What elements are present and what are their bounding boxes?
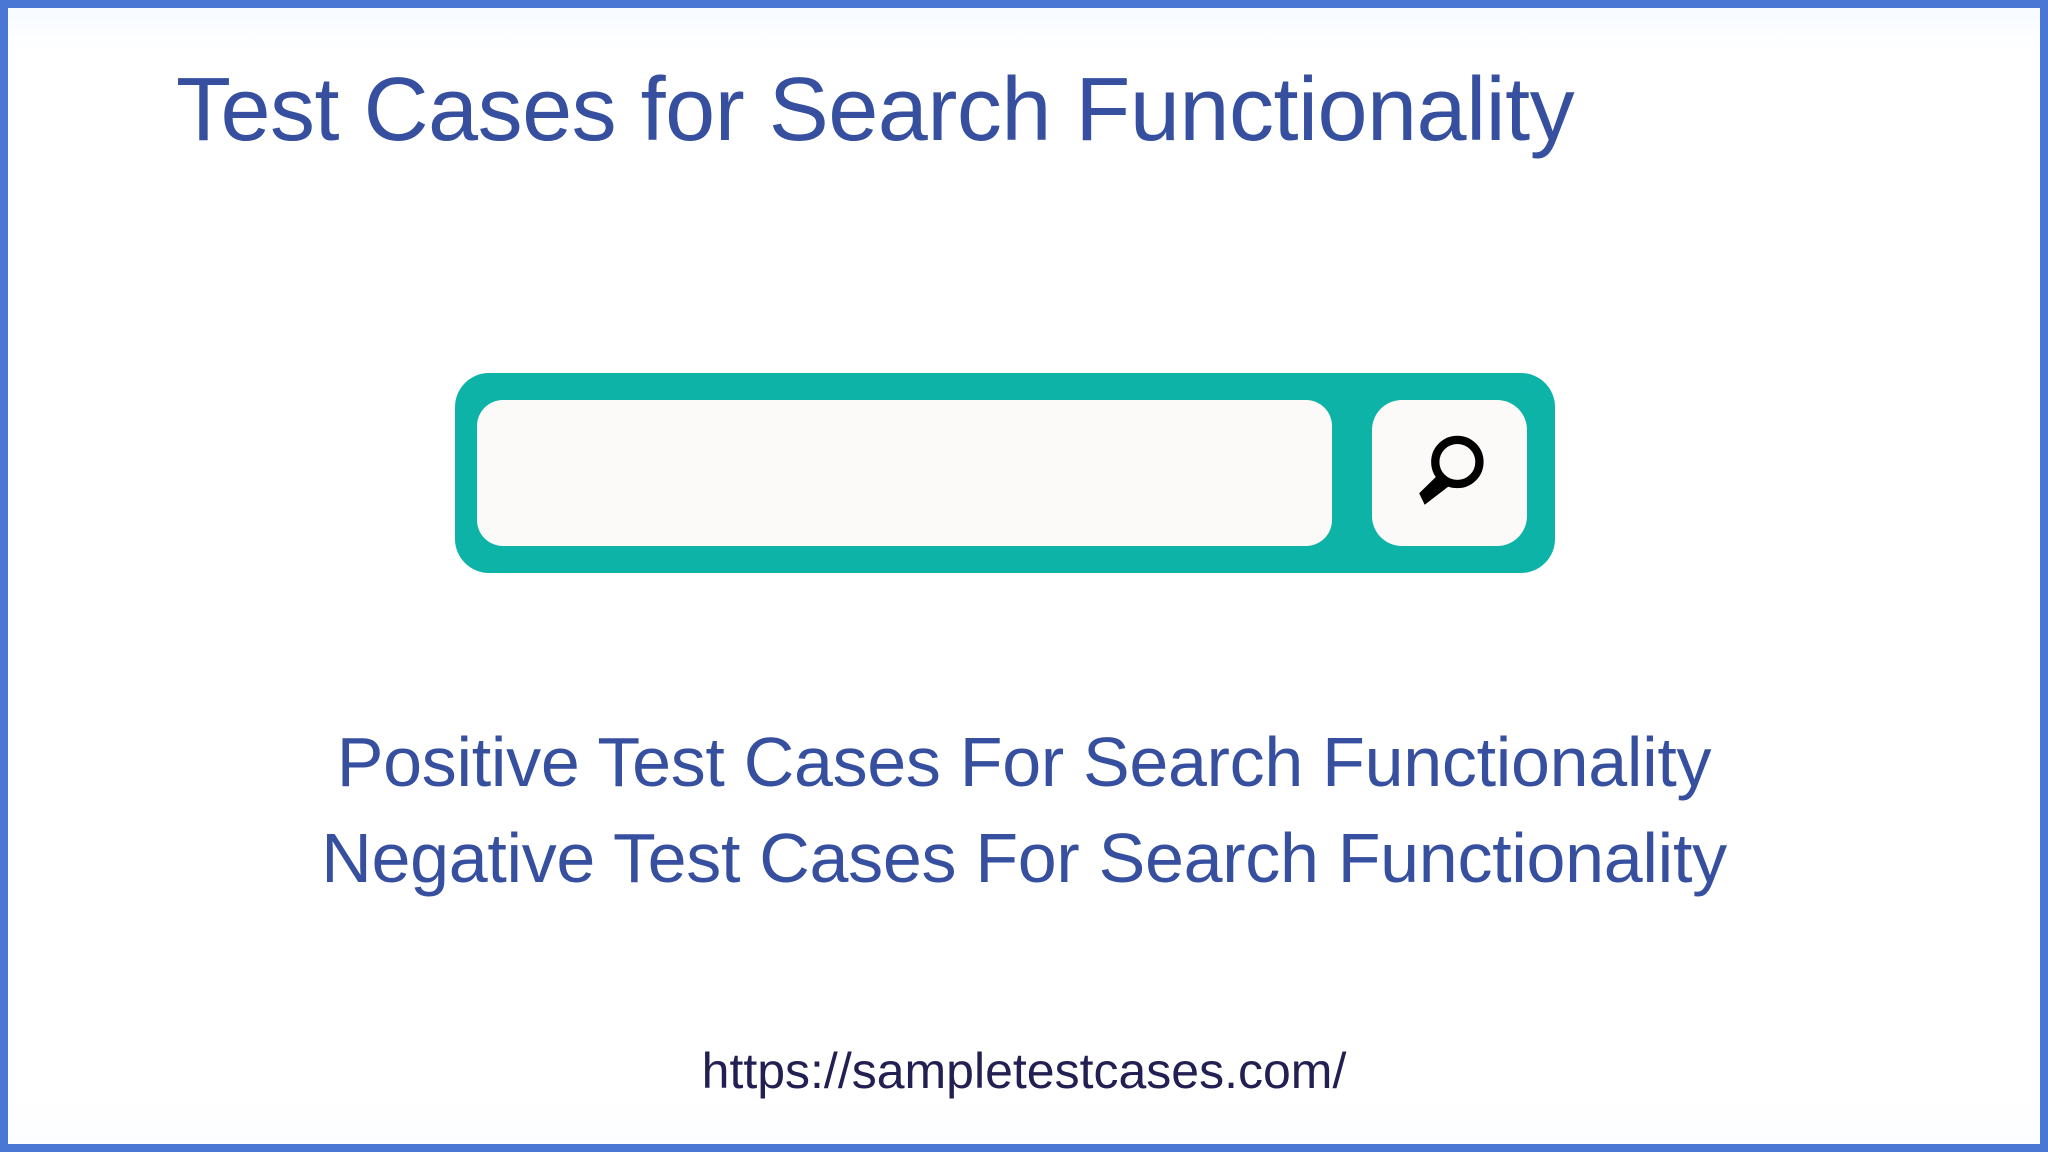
magnifier-icon — [1404, 427, 1496, 519]
footer-url[interactable]: https://sampletestcases.com/ — [8, 1044, 2040, 1099]
slide-frame: Test Cases for Search Functionality Posi… — [0, 0, 2048, 1152]
list-item: Negative Test Cases For Search Functiona… — [8, 822, 2040, 896]
list-item: Positive Test Cases For Search Functiona… — [8, 726, 2040, 800]
slide-content: Test Cases for Search Functionality Posi… — [8, 8, 2040, 1144]
test-case-list: Positive Test Cases For Search Functiona… — [8, 726, 2040, 895]
search-submit-button[interactable] — [1372, 400, 1527, 546]
search-input[interactable] — [477, 400, 1332, 546]
page-title: Test Cases for Search Functionality — [176, 60, 1936, 161]
search-bar[interactable] — [455, 373, 1555, 573]
